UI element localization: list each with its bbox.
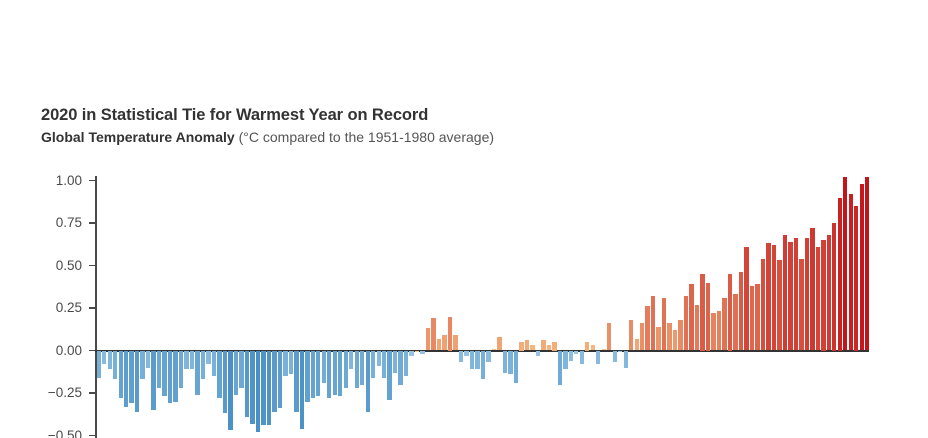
bar	[536, 351, 540, 356]
bar	[201, 351, 205, 380]
y-tick-mark	[89, 180, 96, 181]
bar	[711, 313, 715, 350]
bar	[102, 351, 106, 365]
bar	[717, 311, 721, 350]
bar	[854, 206, 858, 351]
bar	[355, 351, 359, 388]
bar	[750, 286, 754, 351]
bar	[827, 235, 831, 351]
y-tick-label: 1.00	[28, 174, 82, 187]
bar	[415, 351, 419, 352]
bar	[245, 351, 249, 417]
bar	[239, 351, 243, 388]
bar	[706, 283, 710, 351]
bar	[217, 351, 221, 399]
bar	[437, 339, 441, 351]
bar	[492, 349, 496, 351]
bar	[475, 351, 479, 370]
bar	[761, 259, 765, 351]
bar	[349, 351, 353, 370]
bar	[613, 351, 617, 363]
bar	[256, 351, 260, 433]
bar	[300, 351, 304, 429]
bar	[805, 238, 809, 350]
bar	[124, 351, 128, 407]
bar	[140, 351, 144, 380]
bar	[431, 318, 435, 350]
bar	[228, 351, 232, 431]
y-tick-mark	[89, 435, 96, 436]
bar	[184, 351, 188, 370]
bar-series	[96, 0, 870, 438]
bar	[267, 351, 271, 426]
bar	[261, 351, 265, 426]
bar	[733, 294, 737, 350]
bar	[552, 342, 556, 351]
y-tick-label: 0.75	[28, 216, 82, 229]
bar	[223, 351, 227, 414]
bar	[558, 351, 562, 385]
bar	[393, 351, 397, 373]
bar	[728, 274, 732, 351]
bar	[448, 317, 452, 351]
bar	[344, 351, 348, 388]
bar	[470, 351, 474, 370]
bar	[563, 351, 567, 370]
plot-area: 1.000.750.500.250.00−0.25−0.50	[0, 0, 928, 438]
bar	[596, 351, 600, 365]
bar	[673, 330, 677, 350]
bar	[503, 351, 507, 373]
y-tick-mark	[89, 307, 96, 308]
bar	[667, 323, 671, 350]
bar	[404, 351, 408, 377]
bar	[108, 351, 112, 370]
bar	[656, 327, 660, 351]
bar	[360, 351, 364, 385]
y-tick-mark	[89, 265, 96, 266]
bar	[157, 351, 161, 388]
bar	[860, 184, 864, 351]
bar	[316, 351, 320, 397]
bar	[382, 351, 386, 378]
bar	[212, 351, 216, 377]
bar	[569, 351, 573, 361]
y-tick-label: 0.50	[28, 259, 82, 272]
bar	[327, 351, 331, 399]
y-tick-label: 0.00	[28, 344, 82, 357]
bar	[788, 242, 792, 351]
bar	[574, 351, 578, 354]
bar	[508, 351, 512, 375]
bar	[783, 235, 787, 351]
bar	[442, 335, 446, 350]
bar	[179, 351, 183, 388]
bar	[453, 335, 457, 350]
bar	[272, 351, 276, 412]
y-tick-mark	[89, 392, 96, 393]
bar	[689, 284, 693, 350]
bar	[722, 298, 726, 351]
bar	[283, 351, 287, 377]
bar	[206, 351, 210, 365]
bar	[580, 351, 584, 365]
bar	[195, 351, 199, 395]
bar	[585, 342, 589, 351]
bar	[695, 305, 699, 351]
y-tick-label: −0.25	[28, 386, 82, 399]
bar	[146, 351, 150, 368]
bar	[744, 247, 748, 351]
bar	[777, 260, 781, 350]
bar	[486, 351, 490, 363]
bar	[129, 351, 133, 404]
bar	[294, 351, 298, 412]
bar	[607, 323, 611, 350]
bar	[700, 274, 704, 351]
bar	[333, 351, 337, 395]
bar	[426, 328, 430, 350]
y-tick-label: 0.25	[28, 301, 82, 314]
bar	[766, 243, 770, 350]
bar	[541, 340, 545, 350]
bar	[311, 351, 315, 399]
bar	[113, 351, 117, 380]
bar	[624, 351, 628, 368]
bar	[135, 351, 139, 412]
y-tick-label: −0.50	[28, 429, 82, 438]
bar	[519, 342, 523, 351]
bar	[366, 351, 370, 412]
bar	[799, 259, 803, 351]
bar	[289, 351, 293, 375]
bar	[678, 320, 682, 351]
bar	[755, 284, 759, 350]
bar	[821, 240, 825, 351]
bar	[305, 351, 309, 402]
bar	[119, 351, 123, 399]
bar	[530, 345, 534, 350]
bar	[843, 177, 847, 350]
bar	[151, 351, 155, 411]
bar	[234, 351, 238, 395]
bar	[168, 351, 172, 404]
bar	[810, 228, 814, 350]
bar	[371, 351, 375, 378]
bar	[602, 349, 606, 351]
bar	[772, 245, 776, 350]
bar	[162, 351, 166, 397]
bar	[684, 296, 688, 350]
bar	[173, 351, 177, 402]
bar	[591, 345, 595, 350]
bar	[547, 345, 551, 350]
bar	[651, 296, 655, 350]
bar	[398, 351, 402, 385]
bar	[322, 351, 326, 383]
bar	[635, 339, 639, 351]
bar	[838, 198, 842, 351]
bar	[97, 351, 101, 378]
y-tick-mark	[89, 222, 96, 223]
bar	[849, 194, 853, 350]
bar	[190, 351, 194, 370]
bar	[459, 351, 463, 363]
bar	[514, 351, 518, 383]
bar	[629, 320, 633, 351]
bar	[816, 247, 820, 351]
bar	[481, 351, 485, 380]
bar	[278, 351, 282, 409]
bar	[377, 351, 381, 366]
bar	[865, 177, 869, 350]
bar	[739, 272, 743, 350]
chart-page: 2020 in Statistical Tie for Warmest Year…	[0, 0, 928, 438]
bar	[640, 323, 644, 350]
bar	[645, 306, 649, 350]
bar	[497, 337, 501, 351]
bar	[409, 351, 413, 356]
bar	[662, 298, 666, 351]
bar	[250, 351, 254, 424]
bar	[420, 351, 424, 354]
bar	[525, 340, 529, 350]
bar	[832, 223, 836, 351]
bar	[618, 351, 622, 353]
bar	[794, 238, 798, 350]
bar	[387, 351, 391, 400]
bar	[338, 351, 342, 397]
bar	[464, 351, 468, 356]
